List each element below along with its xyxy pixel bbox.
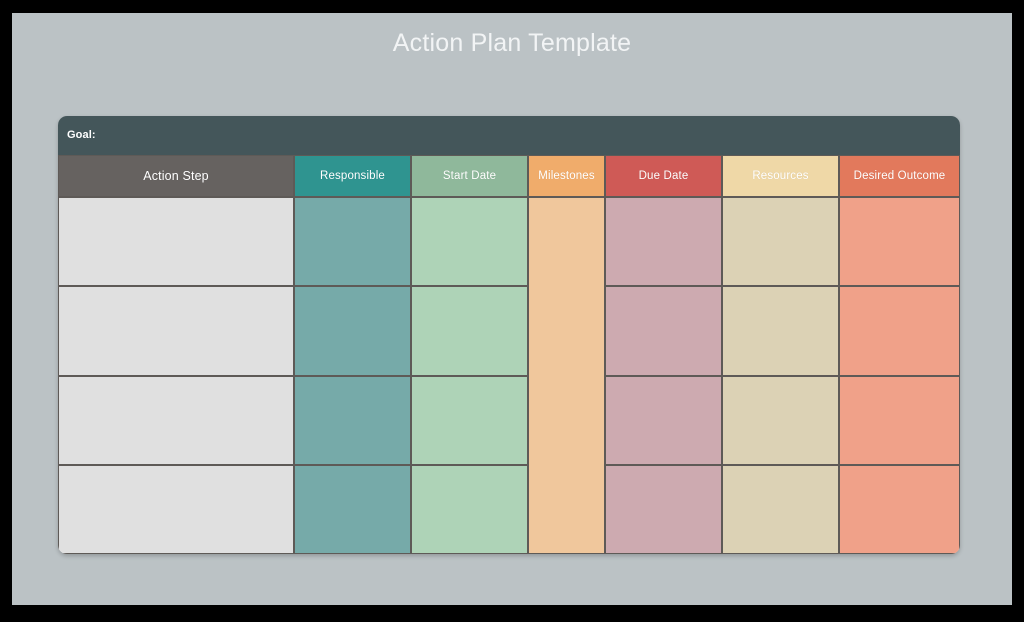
table-cell-responsible-row2[interactable] [294,286,411,375]
slide-canvas: Action Plan Template Goal: Action StepRe… [0,0,1024,622]
table-cell-start_date-row1[interactable] [411,197,528,286]
column-header-label-responsible: Responsible [320,170,385,182]
table-cell-due_date-row4[interactable] [605,465,722,554]
table-cell-start_date-row4[interactable] [411,465,528,554]
table-cell-desired_outcome-row1[interactable] [839,197,960,286]
column-header-label-desired_outcome: Desired Outcome [854,170,946,182]
table-cell-resources-row4[interactable] [722,465,839,554]
table-cell-action_step-row1[interactable] [58,197,294,286]
table-cell-resources-row3[interactable] [722,376,839,465]
table-cell-due_date-row3[interactable] [605,376,722,465]
table-cell-resources-row2[interactable] [722,286,839,375]
column-header-label-resources: Resources [752,170,808,182]
table-cell-due_date-row1[interactable] [605,197,722,286]
action-plan-table: Goal: Action StepResponsibleStart DateMi… [58,116,960,554]
column-header-start_date[interactable]: Start Date [411,155,528,197]
table-cell-start_date-row2[interactable] [411,286,528,375]
table-cell-due_date-row2[interactable] [605,286,722,375]
table-cell-desired_outcome-row4[interactable] [839,465,960,554]
column-header-label-due_date: Due Date [639,170,689,182]
table-cell-responsible-row1[interactable] [294,197,411,286]
table-grid: Action StepResponsibleStart DateMileston… [58,155,960,554]
column-header-label-action_step: Action Step [143,169,209,183]
page-title: Action Plan Template [12,26,1012,60]
table-cell-action_step-row3[interactable] [58,376,294,465]
table-cell-action_step-row2[interactable] [58,286,294,375]
column-header-label-start_date: Start Date [443,170,496,182]
table-cell-action_step-row4[interactable] [58,465,294,554]
table-cell-milestones-merged[interactable] [528,197,605,554]
goal-bar[interactable]: Goal: [58,116,960,155]
slide-surface: Action Plan Template Goal: Action StepRe… [12,13,1012,605]
table-cell-responsible-row3[interactable] [294,376,411,465]
column-header-responsible[interactable]: Responsible [294,155,411,197]
column-header-resources[interactable]: Resources [722,155,839,197]
column-header-label-milestones: Milestones [538,170,594,182]
column-header-due_date[interactable]: Due Date [605,155,722,197]
table-cell-resources-row1[interactable] [722,197,839,286]
column-header-action_step[interactable]: Action Step [58,155,294,197]
table-cell-responsible-row4[interactable] [294,465,411,554]
column-header-milestones[interactable]: Milestones [528,155,605,197]
table-cell-desired_outcome-row3[interactable] [839,376,960,465]
goal-label: Goal: [67,129,96,141]
column-header-desired_outcome[interactable]: Desired Outcome [839,155,960,197]
table-cell-start_date-row3[interactable] [411,376,528,465]
table-cell-desired_outcome-row2[interactable] [839,286,960,375]
